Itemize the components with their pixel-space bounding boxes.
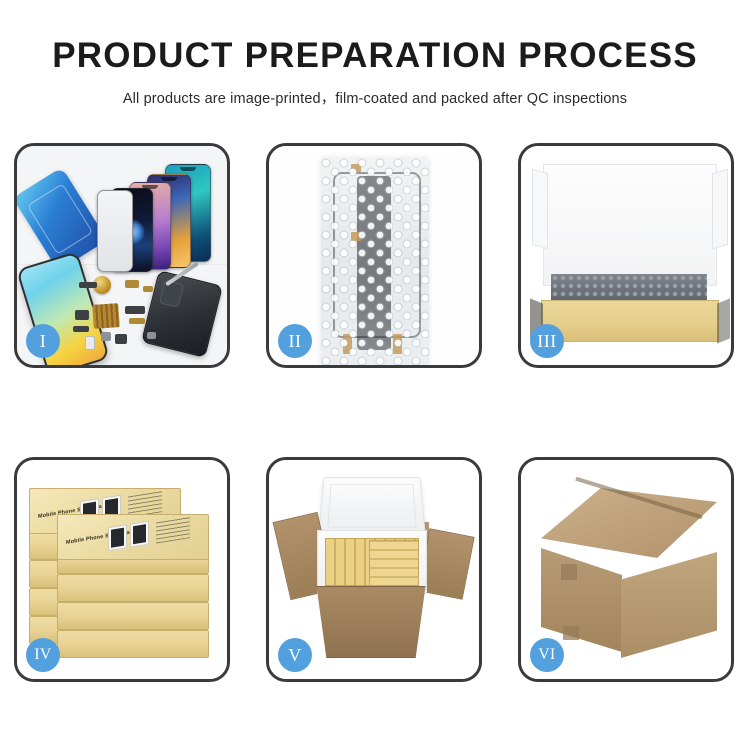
yellow-box-stack: Mobile Phone Spare Parts Mobile Phone Sp… bbox=[29, 474, 221, 672]
panel-badge-5: V bbox=[278, 638, 312, 672]
carton-front-wall bbox=[309, 586, 433, 658]
phone-display-fan bbox=[103, 162, 223, 272]
page-title: PRODUCT PREPARATION PROCESS bbox=[0, 38, 750, 75]
box-lid-white-foam bbox=[543, 164, 717, 286]
page-subtitle: All products are image-printed，film-coat… bbox=[0, 87, 750, 108]
panel-badge-6: VI bbox=[530, 638, 564, 672]
tempered-glass-film bbox=[97, 190, 133, 272]
panel-badge-3: III bbox=[530, 324, 564, 358]
process-panel-6: VI bbox=[518, 457, 734, 682]
spare-part bbox=[75, 310, 89, 320]
bubble-texture bbox=[321, 158, 429, 365]
stacked-box-top-front: Mobile Phone Spare Parts bbox=[57, 514, 209, 560]
box-label-phone-image bbox=[130, 521, 149, 548]
process-panel-4: Mobile Phone Spare Parts Mobile Phone Sp… bbox=[14, 457, 230, 682]
spare-part bbox=[79, 282, 97, 288]
phone-notch-icon bbox=[180, 167, 196, 171]
page-header: PRODUCT PREPARATION PROCESS All products… bbox=[0, 0, 750, 108]
box-label-phone-image bbox=[108, 524, 127, 551]
box-label: Mobile Phone Spare Parts bbox=[64, 511, 192, 561]
box-label-spec-lines bbox=[156, 514, 190, 543]
carton-tape-lower bbox=[563, 626, 579, 640]
yellow-boxes-inside-row2 bbox=[369, 540, 419, 586]
stacked-box bbox=[57, 630, 209, 658]
spare-part bbox=[125, 280, 139, 288]
spare-part bbox=[115, 334, 127, 344]
bubble-wrap-pouch bbox=[321, 158, 429, 365]
stacked-box bbox=[57, 602, 209, 630]
spare-part bbox=[101, 332, 111, 341]
process-panel-5: V bbox=[266, 457, 482, 682]
spare-part bbox=[143, 286, 153, 292]
spare-part bbox=[73, 326, 89, 332]
process-panel-1: I bbox=[14, 143, 230, 368]
connector-pad-part bbox=[92, 303, 120, 329]
carton-tape-upper bbox=[561, 564, 577, 580]
stacked-box bbox=[57, 574, 209, 602]
spare-part bbox=[125, 306, 145, 314]
process-panel-2: II bbox=[266, 143, 482, 368]
spare-part bbox=[85, 336, 95, 350]
phone-notch-icon bbox=[161, 177, 177, 181]
process-panel-grid: I II III bbox=[14, 143, 736, 682]
foam-box-lid bbox=[318, 477, 426, 536]
process-panel-3: III bbox=[518, 143, 734, 368]
panel-badge-2: II bbox=[278, 324, 312, 358]
panel-badge-1: I bbox=[26, 324, 60, 358]
spare-part bbox=[129, 318, 145, 324]
spare-part bbox=[147, 332, 156, 339]
panel-badge-4: IV bbox=[26, 638, 60, 672]
grey-foam-padding bbox=[551, 274, 707, 302]
yellow-box-base bbox=[541, 300, 719, 342]
